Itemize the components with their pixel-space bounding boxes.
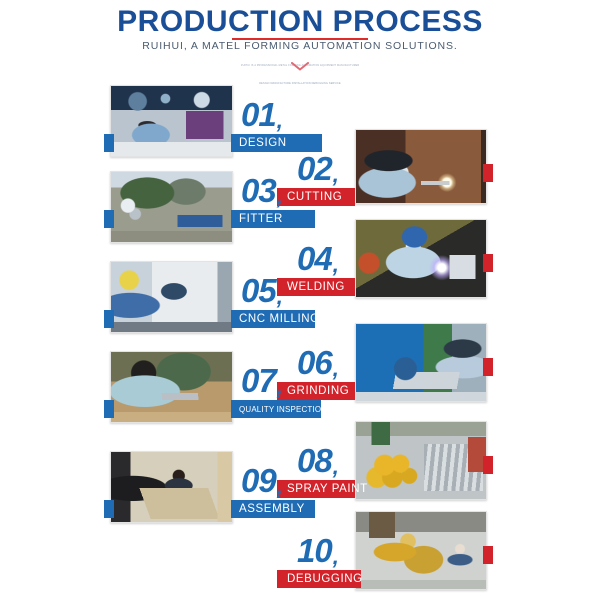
step-06-number: 06, [297, 344, 338, 382]
step-02-nub [483, 164, 493, 182]
step-01-number: 01, [241, 96, 282, 134]
step-01-nub [104, 134, 114, 152]
step-10-label: DEBUGGING [287, 570, 363, 588]
step-07-nub [104, 400, 114, 418]
step-02-label-bar[interactable]: CUTTING [277, 188, 355, 206]
step-07-photo [110, 351, 233, 423]
step-05-label-bar[interactable]: CNC MILLING [231, 310, 315, 328]
step-04-label: WELDING [287, 278, 345, 296]
step-10-nub [483, 546, 493, 564]
step-09-label-bar[interactable]: ASSEMBLY [231, 500, 315, 518]
step-10-number: 10, [297, 532, 338, 570]
step-03-label-bar[interactable]: FITTER [231, 210, 315, 228]
step-08-label: SPRAY PAINT [287, 480, 368, 498]
step-03-photo [110, 171, 233, 243]
step-06-nub [483, 358, 493, 376]
production-process-infographic: PRODUCTION PROCESS RUIHUI, A MATEL FORMI… [0, 0, 600, 600]
step-05-number: 05, [241, 272, 282, 310]
step-06-photo [355, 323, 487, 402]
step-07-label-bar[interactable]: QUALITY INSPECTION [231, 400, 321, 418]
step-02-photo [355, 129, 487, 204]
step-03-label: FITTER [239, 210, 283, 228]
step-06-label: GRINDING [287, 382, 349, 400]
step-02-number: 02, [297, 150, 338, 188]
chevron-down-icon [291, 62, 309, 71]
step-04-photo [355, 219, 487, 298]
page-subtitle: RUIHUI, A MATEL FORMING AUTOMATION SOLUT… [0, 40, 600, 52]
step-07-label: QUALITY INSPECTION [239, 400, 327, 418]
step-08-photo [355, 421, 487, 500]
step-08-nub [483, 456, 493, 474]
step-04-nub [483, 254, 493, 272]
step-05-photo [110, 261, 233, 333]
steps-container: DESIGN 01, CUTTING 02, [0, 76, 600, 596]
step-08-number: 08, [297, 442, 338, 480]
page-title: PRODUCTION PROCESS [0, 6, 600, 38]
step-09-photo [110, 451, 233, 523]
step-05-nub [104, 310, 114, 328]
header: PRODUCTION PROCESS RUIHUI, A MATEL FORMI… [0, 0, 600, 76]
step-05-label: CNC MILLING [239, 310, 320, 328]
step-10-label-bar[interactable]: DEBUGGING [277, 570, 361, 588]
step-09-nub [104, 500, 114, 518]
step-10-photo [355, 511, 487, 590]
step-01-photo [110, 85, 233, 157]
step-02-label: CUTTING [287, 188, 342, 206]
step-01-label: DESIGN [239, 134, 287, 152]
step-03-number: 03, [241, 172, 282, 210]
step-08-label-bar[interactable]: SPRAY PAINT [277, 480, 355, 498]
step-04-number: 04, [297, 240, 338, 278]
step-07-number: 07, [241, 362, 282, 400]
step-09-number: 09, [241, 462, 282, 500]
step-09-label: ASSEMBLY [239, 500, 305, 518]
step-04-label-bar[interactable]: WELDING [277, 278, 355, 296]
step-03-nub [104, 210, 114, 228]
step-06-label-bar[interactable]: GRINDING [277, 382, 355, 400]
